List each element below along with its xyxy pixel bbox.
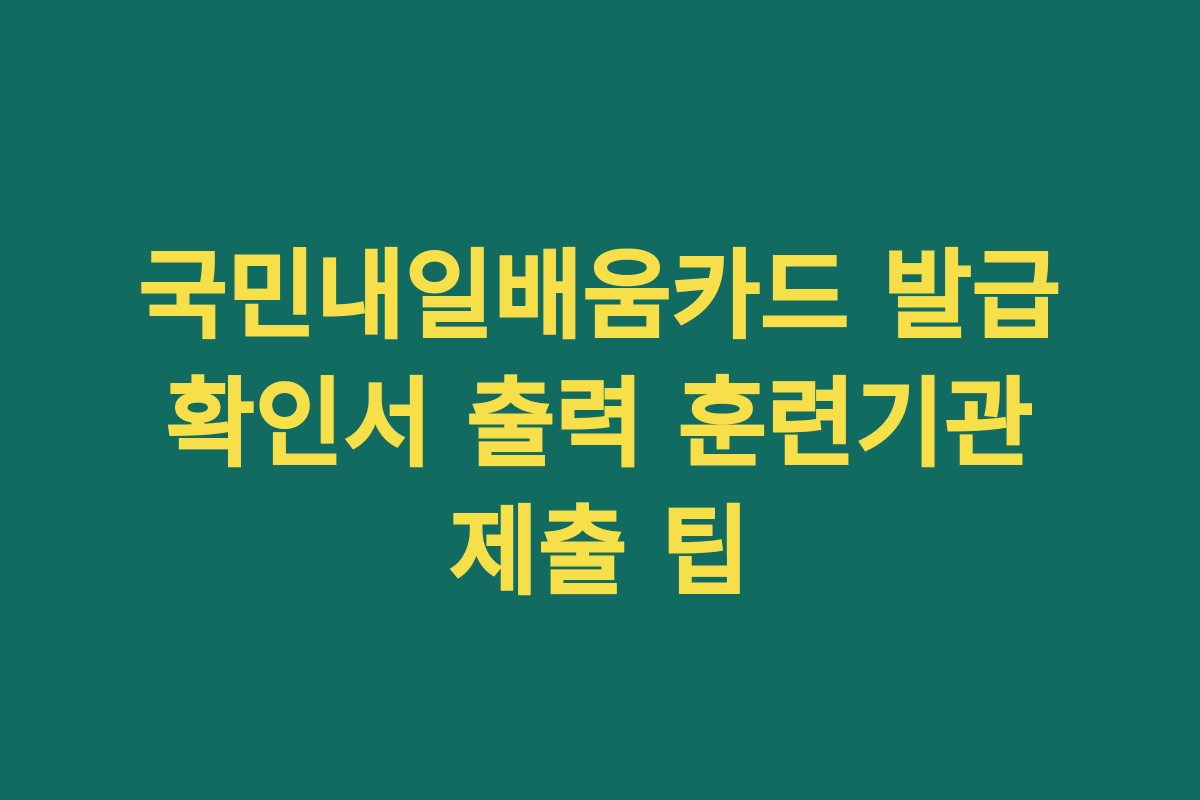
headline-block: 국민내일배움카드 발급 확인서 출력 훈련기관 제출 팁	[85, 233, 1115, 616]
page-title: 국민내일배움카드 발급 확인서 출력 훈련기관 제출 팁	[85, 233, 1115, 616]
banner-canvas: 국민내일배움카드 발급 확인서 출력 훈련기관 제출 팁	[0, 0, 1200, 800]
